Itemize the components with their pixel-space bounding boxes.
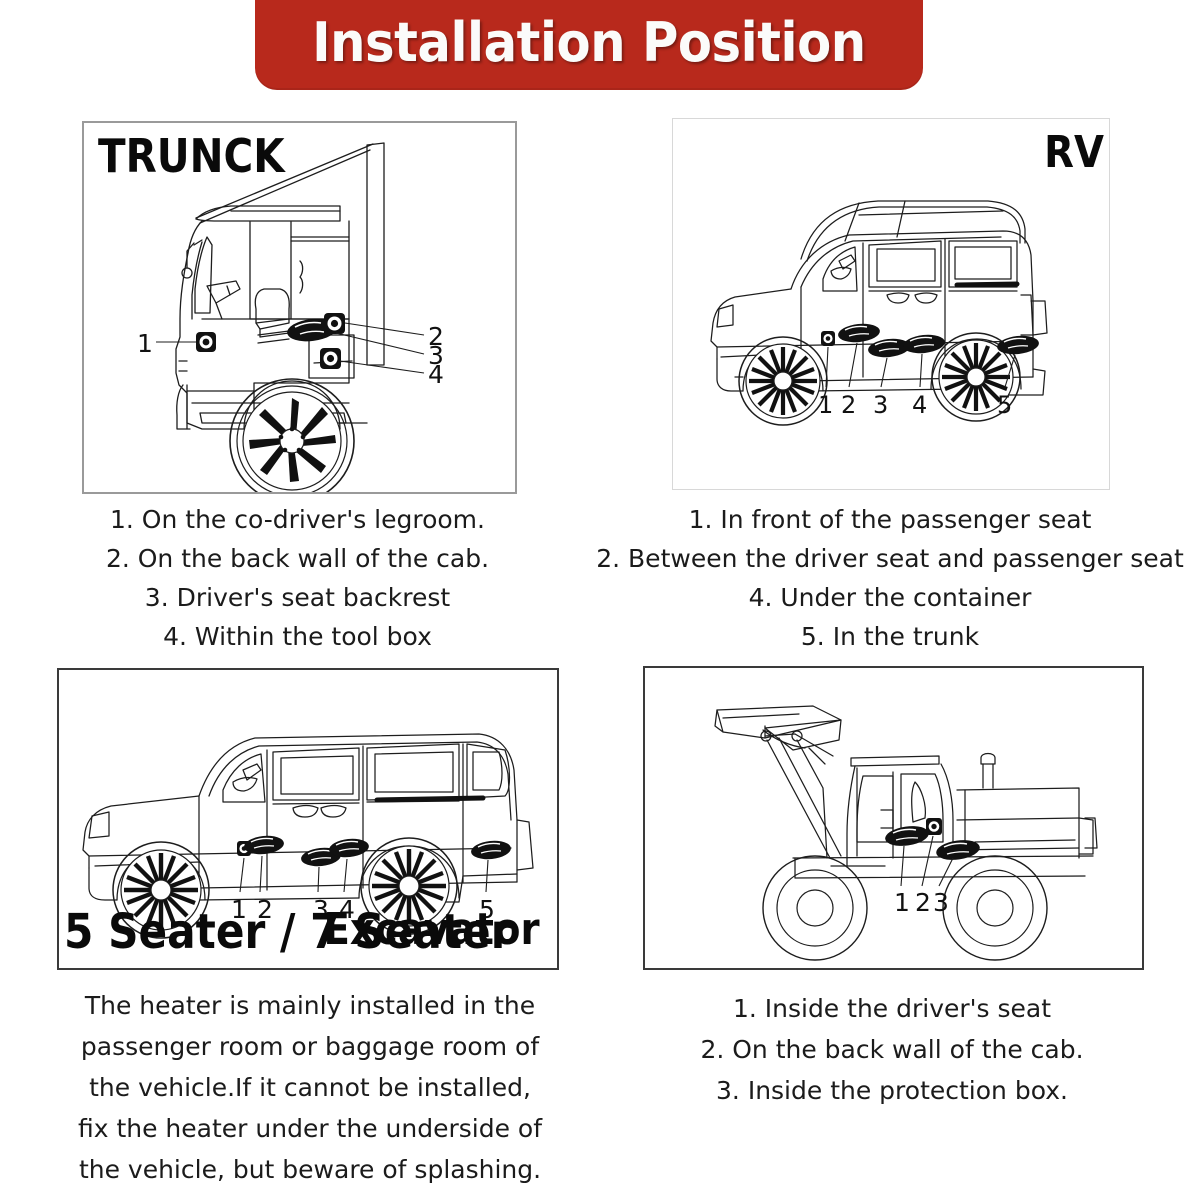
heater-marker-1	[196, 332, 216, 352]
caption-line: the vehicle, but beware of splashing.	[52, 1149, 568, 1190]
caption-line: 1. In front of the passenger seat	[592, 500, 1188, 539]
panel-label-rv: RV	[1044, 131, 1104, 175]
installation-position-infographic: Installation Position	[0, 0, 1200, 1200]
marker-number-3: 3	[873, 391, 888, 419]
caption-line: fix the heater under the underside of	[52, 1108, 568, 1149]
caption-excavator: 1. Inside the driver's seat 2. On the ba…	[662, 988, 1122, 1111]
heater-marker-3	[935, 838, 981, 863]
caption-line: 3. Inside the protection box.	[662, 1070, 1122, 1111]
caption-line: the vehicle.If it cannot be installed,	[52, 1067, 568, 1108]
caption-rv: 1. In front of the passenger seat 2. Bet…	[592, 500, 1188, 656]
marker-number-5: 5	[997, 391, 1012, 419]
caption-line: 5. In the trunk	[592, 617, 1188, 656]
truck-wheel	[230, 379, 354, 492]
page-title: Installation Position	[312, 16, 866, 74]
heater-marker-4	[320, 348, 341, 369]
caption-line: 2. Between the driver seat and passenger…	[592, 539, 1188, 578]
caption-line: 1. On the co-driver's legroom.	[60, 500, 535, 539]
caption-line: 4. Within the tool box	[60, 617, 535, 656]
header-banner: Installation Position	[255, 0, 923, 90]
panel-label-trunck: TRUNCK	[98, 133, 285, 179]
heater-marker-1	[821, 331, 835, 346]
marker-number-4: 4	[428, 360, 444, 389]
marker-number-4: 4	[912, 391, 927, 419]
caption-line: 2. On the back wall of the cab.	[60, 539, 535, 578]
caption-van: The heater is mainly installed in the pa…	[52, 985, 568, 1190]
marker-number-1: 1	[818, 391, 833, 419]
heater-marker-1	[884, 824, 930, 849]
excavator-rear-wheel	[943, 856, 1047, 960]
caption-trunck: 1. On the co-driver's legroom. 2. On the…	[60, 500, 535, 656]
caption-line: 1. Inside the driver's seat	[662, 988, 1122, 1029]
marker-number-3: 3	[933, 888, 949, 917]
panel-excavator: 1 2 3	[643, 666, 1144, 970]
excavator-front-wheel	[763, 856, 867, 960]
heater-marker-2	[324, 313, 345, 334]
marker-number-1: 1	[137, 329, 153, 358]
heater-marker-5	[470, 839, 512, 861]
caption-line: 2. On the back wall of the cab.	[662, 1029, 1122, 1070]
excavator-diagram: 1 2 3	[645, 668, 1142, 968]
rv-front-wheel	[739, 337, 827, 425]
marker-number-2: 2	[915, 888, 931, 917]
caption-line: The heater is mainly installed in the	[52, 985, 568, 1026]
heater-marker-2	[926, 818, 942, 835]
caption-line: 4. Under the container	[592, 578, 1188, 617]
heater-marker-2	[837, 322, 881, 344]
caption-line: 3. Driver's seat backrest	[60, 578, 535, 617]
marker-number-2: 2	[841, 391, 856, 419]
panel-label-excavator: Excavator	[324, 908, 540, 952]
marker-number-1: 1	[894, 888, 910, 917]
caption-line: passenger room or baggage room of	[52, 1026, 568, 1067]
